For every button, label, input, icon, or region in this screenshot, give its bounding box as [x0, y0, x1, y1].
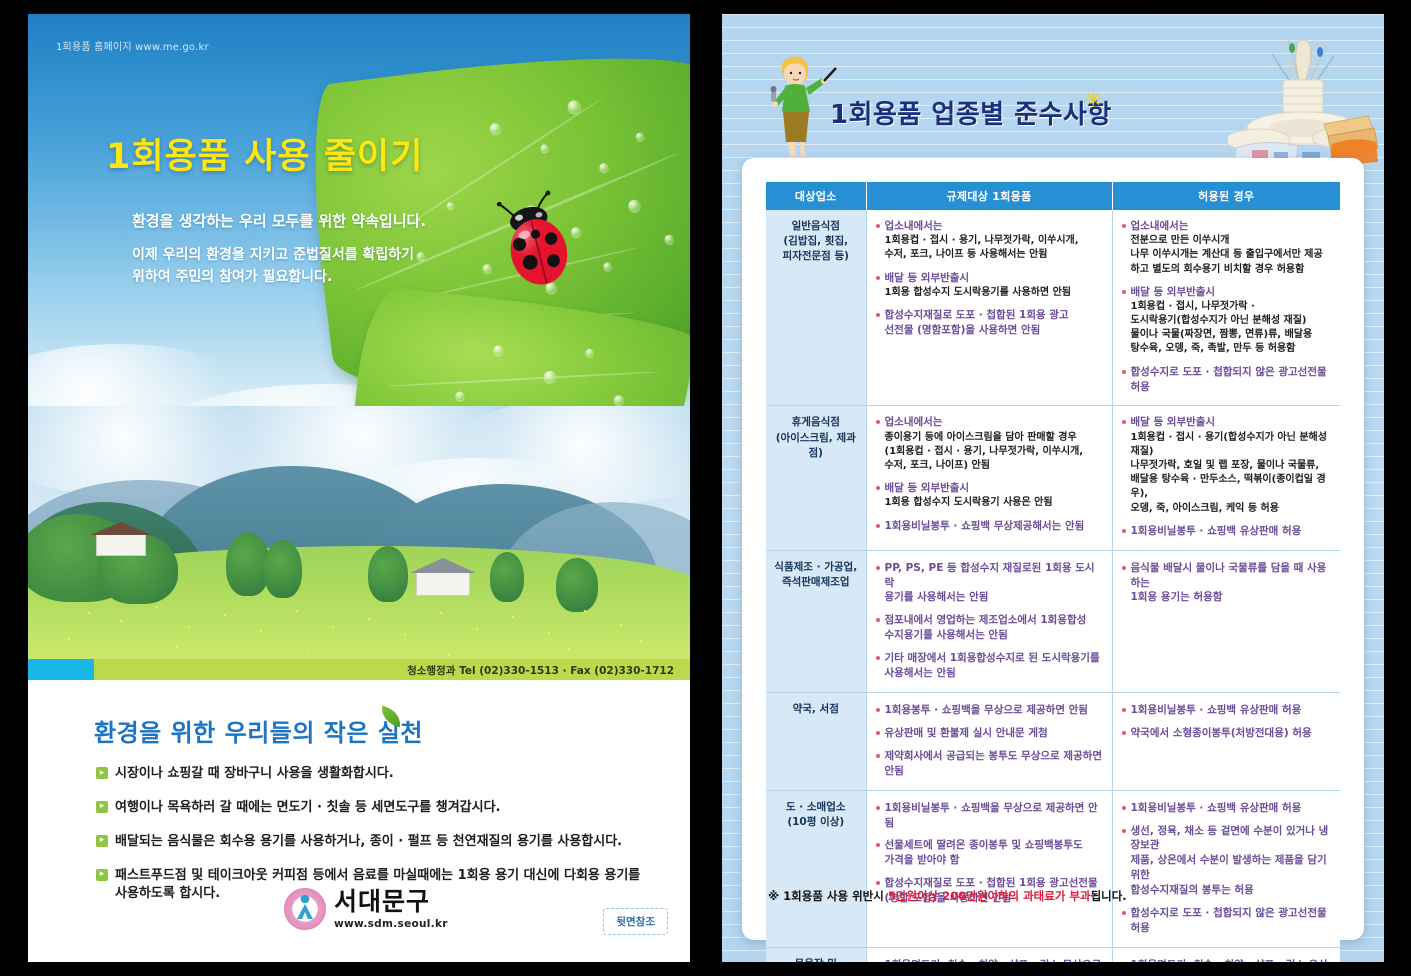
brochure-spread: 1회용품 홈페이지 www.me.go.kr — [0, 0, 1411, 976]
practice-title: 환경을 위한 우리들의 작은 실천 — [94, 713, 423, 748]
table-row: 식품제조 · 가공업, 즉석판매제조업PP, PS, PE 등 합성수지 재질로… — [766, 550, 1340, 692]
cell-business-type: 목욕장 및 숙박업소 — [766, 947, 866, 962]
cell-business-type: 일반음식점 (김밥집, 횟집, 피자전문점 등) — [766, 210, 866, 406]
list-item-label: 여행이나 목욕하러 갈 때에는 면도기 · 칫솔 등 세면도구를 챙겨갑시다. — [115, 799, 501, 818]
practice-section: 환경을 위한 우리들의 작은 실천 ▸ 시장이나 쇼핑갈 때 장바구니 사용을 … — [28, 680, 690, 962]
arrow-bullet-icon: ▸ — [96, 801, 108, 813]
banned-rule: 배달 등 외부반출시1회용 합성수지 도시락용기 사용은 안됨 — [875, 481, 1104, 510]
dew-drop — [635, 132, 644, 141]
cell-banned-items: 1회용봉투 · 쇼핑백을 무상으로 제공하면 안됨유상판매 및 환불제 실시 안… — [866, 693, 1112, 791]
banned-rule-heading: 점포내에서 영업하는 제조업소에서 1회용합성 수지용기를 사용해서는 안됨 — [875, 613, 1104, 643]
house-shape — [96, 534, 146, 556]
table-row: 목욕장 및 숙박업소1회용면도기, 칫솔 · 치약 · 샴프 · 린스 무상으로… — [766, 947, 1340, 962]
table-row: 휴게음식점 (아이스크림, 제과점)업소내에서는종이용기 등에 아이스크림을 담… — [766, 406, 1340, 550]
tree-cluster — [368, 546, 408, 602]
cell-banned-items: 1회용면도기, 칫솔 · 치약 · 샴프 · 린스 무상으로 제공해서는 안됨 — [866, 947, 1112, 962]
banned-rule-heading: 유상판매 및 환불제 실시 안내문 게첨 — [875, 726, 1104, 741]
banned-rule: 합성수지재질로 도포 · 첩합된 1회용 광고 선전물 (명함포함)을 사용하면… — [875, 308, 1104, 338]
penalty-amount: 5만원이상 200만원이하의 과태료가 부과 — [888, 889, 1091, 903]
allowed-rule-heading: 1회용비닐봉투 · 쇼핑백 유상판매 허용 — [1121, 801, 1333, 816]
house-shape — [416, 572, 470, 596]
allowed-rule-heading: 1회용비닐봉투 · 쇼핑백 유상판매 허용 — [1121, 703, 1333, 718]
banned-rule: PP, PS, PE 등 합성수지 재질로된 1회용 도시락 용기를 사용해서는… — [875, 561, 1104, 606]
dew-drop — [489, 123, 501, 135]
allowed-rule: 약국에서 소형종이봉투(처방전대용) 허용 — [1121, 726, 1333, 741]
cell-allowed-cases: 업소내에서는전분으로 만든 이쑤시개 나무 이쑤시개는 계산대 등 출입구에서만… — [1112, 210, 1340, 406]
list-item: ▸ 배달되는 음식물은 회수용 용기를 사용하거나, 종이 · 펄프 등 천연재… — [96, 833, 656, 852]
roof-shape — [410, 558, 476, 573]
right-page: 1회용품 업종별 준수사항 ✳ — [722, 14, 1384, 962]
allowed-rule-heading: 배달 등 외부반출시 — [1121, 415, 1333, 429]
banned-rule-heading: 1회용봉투 · 쇼핑백을 무상으로 제공하면 안됨 — [875, 703, 1104, 718]
allowed-rule-heading: 합성수지로 도포 · 첩합되지 않은 광고선전물 허용 — [1121, 365, 1333, 395]
compliance-table: 대상업소 규제대상 1회용품 허용된 경우 일반음식점 (김밥집, 횟집, 피자… — [766, 182, 1340, 962]
arrow-bullet-icon: ▸ — [96, 835, 108, 847]
banned-rule-heading: 선물세트에 딸려온 종이봉투 및 쇼핑백봉투도 가격을 받아야 함 — [875, 838, 1104, 868]
allowed-rule-heading: 음식물 배달시 물이나 국물류를 담을 때 사용하는 1회용 용기는 허용함 — [1121, 561, 1333, 606]
banned-rule-heading: 배달 등 외부반출시 — [875, 271, 1104, 285]
allowed-rule-detail: 1회용컵 · 접시, 나무젓가락 · 도시락용기(합성수지가 아닌 분해성 재질… — [1121, 300, 1333, 357]
cell-allowed-cases: 음식물 배달시 물이나 국물류를 담을 때 사용하는 1회용 용기는 허용함 — [1112, 550, 1340, 692]
banned-rule: 점포내에서 영업하는 제조업소에서 1회용합성 수지용기를 사용해서는 안됨 — [875, 613, 1104, 643]
tree-cluster — [556, 558, 598, 612]
logo-text-block: 서대문구 www.sdm.seoul.kr — [334, 889, 448, 930]
dew-drop — [455, 391, 465, 401]
page-body-text: 이제 우리의 환경을 지키고 준법질서를 확립하기 위하여 주민의 참여가 필요… — [132, 245, 414, 288]
district-url: www.sdm.seoul.kr — [334, 918, 448, 930]
column-header-banned: 규제대상 1회용품 — [866, 182, 1112, 210]
banned-rule: 1회용비닐봉투 · 쇼핑백을 무상으로 제공하면 안됨 — [875, 801, 1104, 831]
district-name: 서대문구 — [334, 889, 448, 914]
dew-drop — [664, 235, 674, 245]
back-reference-badge: 뒷면참조 — [603, 908, 668, 935]
cell-allowed-cases: 1회용면도기, 칫솔 · 치약 · 샴프 · 린스 유상판매는 허용 — [1112, 947, 1340, 962]
landscape-photo — [28, 406, 690, 674]
dew-drop — [599, 163, 609, 173]
allowed-rule: 1회용비닐봉투 · 쇼핑백 유상판매 허용 — [1121, 524, 1333, 539]
table-row: 도 · 소매업소 (10평 이상)1회용비닐봉투 · 쇼핑백을 무상으로 제공하… — [766, 790, 1340, 947]
tree-cluster — [264, 540, 302, 598]
penalty-note: ※ 1회용품 사용 위반시 5만원이상 200만원이하의 과태료가 부과됩니다. — [768, 888, 1127, 904]
dew-drop — [446, 202, 454, 210]
allowed-rule: 생선, 정육, 채소 등 겉면에 수분이 있거나 냉장보관 제품, 상온에서 수… — [1121, 824, 1333, 899]
table-body: 일반음식점 (김밥집, 횟집, 피자전문점 등)업소내에서는1회용컵 · 접시 … — [766, 210, 1340, 962]
banned-rule-detail: 1회용 합성수지 도시락용기를 사용하면 안됨 — [875, 286, 1104, 300]
cyan-block — [28, 659, 94, 680]
banned-rule: 1회용봉투 · 쇼핑백을 무상으로 제공하면 안됨 — [875, 703, 1104, 718]
seodaemun-logo: 서대문구 www.sdm.seoul.kr — [284, 888, 448, 930]
banned-rule-detail: 종이용기 등에 아이스크림을 담아 판매할 경우 (1회용컵 · 접시 · 용기… — [875, 431, 1104, 474]
dew-drop — [614, 394, 625, 405]
column-header-business: 대상업소 — [766, 182, 866, 210]
logo-emblem-icon — [284, 888, 326, 930]
banned-rule-heading: 1회용면도기, 칫솔 · 치약 · 샴프 · 린스 무상으로 제공해서는 안됨 — [875, 958, 1104, 962]
allowed-rule: 업소내에서는전분으로 만든 이쑤시개 나무 이쑤시개는 계산대 등 출입구에서만… — [1121, 219, 1333, 277]
cell-business-type: 약국, 서점 — [766, 693, 866, 791]
banned-rule-heading: 업소내에서는 — [875, 415, 1104, 429]
banned-rule: 유상판매 및 환불제 실시 안내문 게첨 — [875, 726, 1104, 741]
banned-rule-heading: 1회용비닐봉투 · 쇼핑백을 무상으로 제공하면 안됨 — [875, 801, 1104, 831]
list-item-label: 시장이나 쇼핑갈 때 장바구니 사용을 생활화합시다. — [115, 765, 394, 784]
banned-rule: 1회용면도기, 칫솔 · 치약 · 샴프 · 린스 무상으로 제공해서는 안됨 — [875, 958, 1104, 962]
cell-allowed-cases: 1회용비닐봉투 · 쇼핑백 유상판매 허용생선, 정육, 채소 등 겉면에 수분… — [1112, 790, 1340, 947]
allowed-rule: 1회용비닐봉투 · 쇼핑백 유상판매 허용 — [1121, 703, 1333, 718]
banned-rule: 선물세트에 딸려온 종이봉투 및 쇼핑백봉투도 가격을 받아야 함 — [875, 838, 1104, 868]
allowed-rule-detail: 1회용컵 · 접시 · 용기(합성수지가 아닌 분해성 재질) 나무젓가락, 호… — [1121, 431, 1333, 516]
cell-banned-items: 업소내에서는1회용컵 · 접시 · 용기, 나무젓가락, 이쑤시개, 수저, 포… — [866, 210, 1112, 406]
table-row: 약국, 서점1회용봉투 · 쇼핑백을 무상으로 제공하면 안됨유상판매 및 환불… — [766, 693, 1340, 791]
cell-allowed-cases: 배달 등 외부반출시1회용컵 · 접시 · 용기(합성수지가 아닌 분해성 재질… — [1112, 406, 1340, 550]
allowed-rule: 합성수지로 도포 · 첩합되지 않은 광고선전물 허용 — [1121, 906, 1333, 936]
homepage-url: 1회용품 홈페이지 www.me.go.kr — [56, 38, 209, 53]
person-figure-icon — [294, 894, 316, 920]
table-header-row: 대상업소 규제대상 1회용품 허용된 경우 — [766, 182, 1340, 210]
page-subtitle: 환경을 생각하는 우리 모두를 위한 약속입니다. — [132, 210, 426, 231]
banned-rule-heading: 합성수지재질로 도포 · 첩합된 1회용 광고 선전물 (명함포함)을 사용하면… — [875, 308, 1104, 338]
banned-rule-detail: 1회용컵 · 접시 · 용기, 나무젓가락, 이쑤시개, 수저, 포크, 나이프… — [875, 234, 1104, 262]
cell-business-type: 식품제조 · 가공업, 즉석판매제조업 — [766, 550, 866, 692]
disposable-items-illustration — [1228, 32, 1378, 168]
list-item-label: 배달되는 음식물은 회수용 용기를 사용하거나, 종이 · 펄프 등 천연재질의… — [115, 833, 622, 852]
list-item: ▸ 시장이나 쇼핑갈 때 장바구니 사용을 생활화합시다. — [96, 765, 656, 784]
banned-rule-heading: PP, PS, PE 등 합성수지 재질로된 1회용 도시락 용기를 사용해서는… — [875, 561, 1104, 606]
penalty-note-suffix: 됩니다. — [1091, 889, 1127, 903]
cell-allowed-cases: 1회용비닐봉투 · 쇼핑백 유상판매 허용약국에서 소형종이봉투(처방전대용) … — [1112, 693, 1340, 791]
dew-drop — [628, 199, 641, 212]
allowed-rule-heading: 1회용면도기, 칫솔 · 치약 · 샴프 · 린스 유상판매는 허용 — [1121, 958, 1333, 962]
cell-business-type: 휴게음식점 (아이스크림, 제과점) — [766, 406, 866, 550]
page-title: 1회용품 사용 줄이기 — [106, 128, 423, 179]
allowed-rule: 음식물 배달시 물이나 국물류를 담을 때 사용하는 1회용 용기는 허용함 — [1121, 561, 1333, 606]
dew-drop — [482, 264, 492, 274]
banned-rule-heading: 1회용비닐봉투 · 쇼핑백 무상제공해서는 안됨 — [875, 519, 1104, 534]
banned-rule: 기타 매장에서 1회용합성수지로 된 도시락용기를 사용해서는 안됨 — [875, 651, 1104, 681]
cell-banned-items: 1회용비닐봉투 · 쇼핑백을 무상으로 제공하면 안됨선물세트에 딸려온 종이봉… — [866, 790, 1112, 947]
allowed-rule: 배달 등 외부반출시1회용컵 · 접시 · 용기(합성수지가 아닌 분해성 재질… — [1121, 415, 1333, 515]
dew-drop — [543, 370, 556, 383]
allowed-rule: 1회용비닐봉투 · 쇼핑백 유상판매 허용 — [1121, 801, 1333, 816]
cell-banned-items: PP, PS, PE 등 합성수지 재질로된 1회용 도시락 용기를 사용해서는… — [866, 550, 1112, 692]
banned-rule-heading: 제약회사에서 공급되는 봉투도 무상으로 제공하면 안됨 — [875, 749, 1104, 779]
banned-rule-heading: 기타 매장에서 1회용합성수지로 된 도시락용기를 사용해서는 안됨 — [875, 651, 1104, 681]
right-page-title: 1회용품 업종별 준수사항 — [830, 94, 1112, 131]
banned-rule: 업소내에서는1회용컵 · 접시 · 용기, 나무젓가락, 이쑤시개, 수저, 포… — [875, 219, 1104, 263]
banned-rule: 배달 등 외부반출시1회용 합성수지 도시락용기를 사용하면 안됨 — [875, 271, 1104, 300]
roof-shape — [90, 522, 152, 535]
banned-rule: 1회용비닐봉투 · 쇼핑백 무상제공해서는 안됨 — [875, 519, 1104, 534]
allowed-rule-heading: 업소내에서는 — [1121, 219, 1333, 233]
dew-drop — [603, 262, 612, 271]
column-header-allowed: 허용된 경우 — [1112, 182, 1340, 210]
allowed-rule-heading: 생선, 정육, 채소 등 겉면에 수분이 있거나 냉장보관 제품, 상온에서 수… — [1121, 824, 1333, 899]
allowed-rule-heading: 배달 등 외부반출시 — [1121, 285, 1333, 299]
dew-drop — [540, 144, 549, 153]
allowed-rule-heading: 1회용비닐봉투 · 쇼핑백 유상판매 허용 — [1121, 524, 1333, 539]
allowed-rule: 합성수지로 도포 · 첩합되지 않은 광고선전물 허용 — [1121, 365, 1333, 395]
banned-rule-detail: 1회용 합성수지 도시락용기 사용은 안됨 — [875, 496, 1104, 510]
allowed-rule-heading: 약국에서 소형종이봉투(처방전대용) 허용 — [1121, 726, 1333, 741]
leaf-vein — [385, 371, 662, 388]
star-accent-icon: ✳ — [1084, 88, 1102, 113]
banned-rule-heading: 배달 등 외부반출시 — [875, 481, 1104, 495]
banned-rule: 업소내에서는종이용기 등에 아이스크림을 담아 판매할 경우 (1회용컵 · 접… — [875, 415, 1104, 473]
allowed-rule: 배달 등 외부반출시1회용컵 · 접시, 나무젓가락 · 도시락용기(합성수지가… — [1121, 285, 1333, 357]
list-item: ▸ 여행이나 목욕하러 갈 때에는 면도기 · 칫솔 등 세면도구를 챙겨갑시다… — [96, 799, 656, 818]
penalty-note-prefix: ※ 1회용품 사용 위반시 — [768, 889, 888, 903]
banned-rule-heading: 업소내에서는 — [875, 219, 1104, 233]
tree-cluster — [490, 552, 524, 602]
allowed-rule-heading: 합성수지로 도포 · 첩합되지 않은 광고선전물 허용 — [1121, 906, 1333, 936]
cell-banned-items: 업소내에서는종이용기 등에 아이스크림을 담아 판매할 경우 (1회용컵 · 접… — [866, 406, 1112, 550]
banned-rule: 제약회사에서 공급되는 봉투도 무상으로 제공하면 안됨 — [875, 749, 1104, 779]
dew-drop — [493, 345, 504, 356]
arrow-bullet-icon: ▸ — [96, 869, 108, 881]
table-row: 일반음식점 (김밥집, 횟집, 피자전문점 등)업소내에서는1회용컵 · 접시 … — [766, 210, 1340, 406]
dew-drop — [586, 348, 595, 357]
rules-card: 대상업소 규제대상 1회용품 허용된 경우 일반음식점 (김밥집, 횟집, 피자… — [742, 158, 1364, 940]
contact-info: 청소행정과 Tel (02)330-1513 · Fax (02)330-171… — [407, 663, 674, 678]
allowed-rule-detail: 전분으로 만든 이쑤시개 나무 이쑤시개는 계산대 등 출입구에서만 제공 하고… — [1121, 234, 1333, 277]
left-page: 1회용품 홈페이지 www.me.go.kr — [28, 14, 690, 962]
cell-business-type: 도 · 소매업소 (10평 이상) — [766, 790, 866, 947]
allowed-rule: 1회용면도기, 칫솔 · 치약 · 샴프 · 린스 유상판매는 허용 — [1121, 958, 1333, 962]
arrow-bullet-icon: ▸ — [96, 767, 108, 779]
